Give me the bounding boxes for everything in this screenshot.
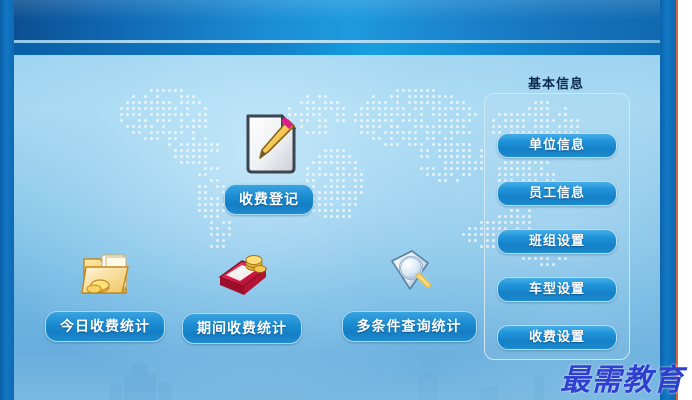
action-label-fee-registration[interactable]: 收费登记 [224,184,314,215]
panel-button-fee-settings[interactable]: 收费设置 [497,325,617,350]
action-label-today-stats[interactable]: 今日收费统计 [45,311,165,342]
window-frame-left [0,0,14,400]
watermark-text: 最需教育 [560,355,684,399]
window-outer-margin [678,0,692,400]
panel-button-team-settings[interactable]: 班组设置 [497,229,617,254]
folder-coins-icon [40,245,170,305]
action-tile-fee-registration[interactable]: 收费登记 [199,110,339,215]
title-bar [0,0,676,40]
application-window: 收费登记 [0,0,692,400]
action-label-multi-query-stats[interactable]: 多条件查询统计 [342,311,477,342]
magnifier-document-icon [334,243,484,305]
red-book-coins-icon [177,243,307,305]
title-bar-shine [0,0,676,20]
panel-button-vehicle-type-settings[interactable]: 车型设置 [497,277,617,302]
panel-button-employee-info[interactable]: 员工信息 [497,181,617,206]
document-pencil-icon [199,110,339,180]
action-label-period-stats[interactable]: 期间收费统计 [182,313,302,344]
panel-button-unit-info[interactable]: 单位信息 [497,133,617,158]
action-tile-today-stats[interactable]: 今日收费统计 [40,245,170,342]
panel-title-basic-info: 基本信息 [496,73,616,92]
action-tile-multi-query-stats[interactable]: 多条件查询统计 [334,243,484,342]
action-tile-period-stats[interactable]: 期间收费统计 [177,243,307,344]
title-bar-underbar [0,43,676,55]
window-frame-right [660,0,676,400]
